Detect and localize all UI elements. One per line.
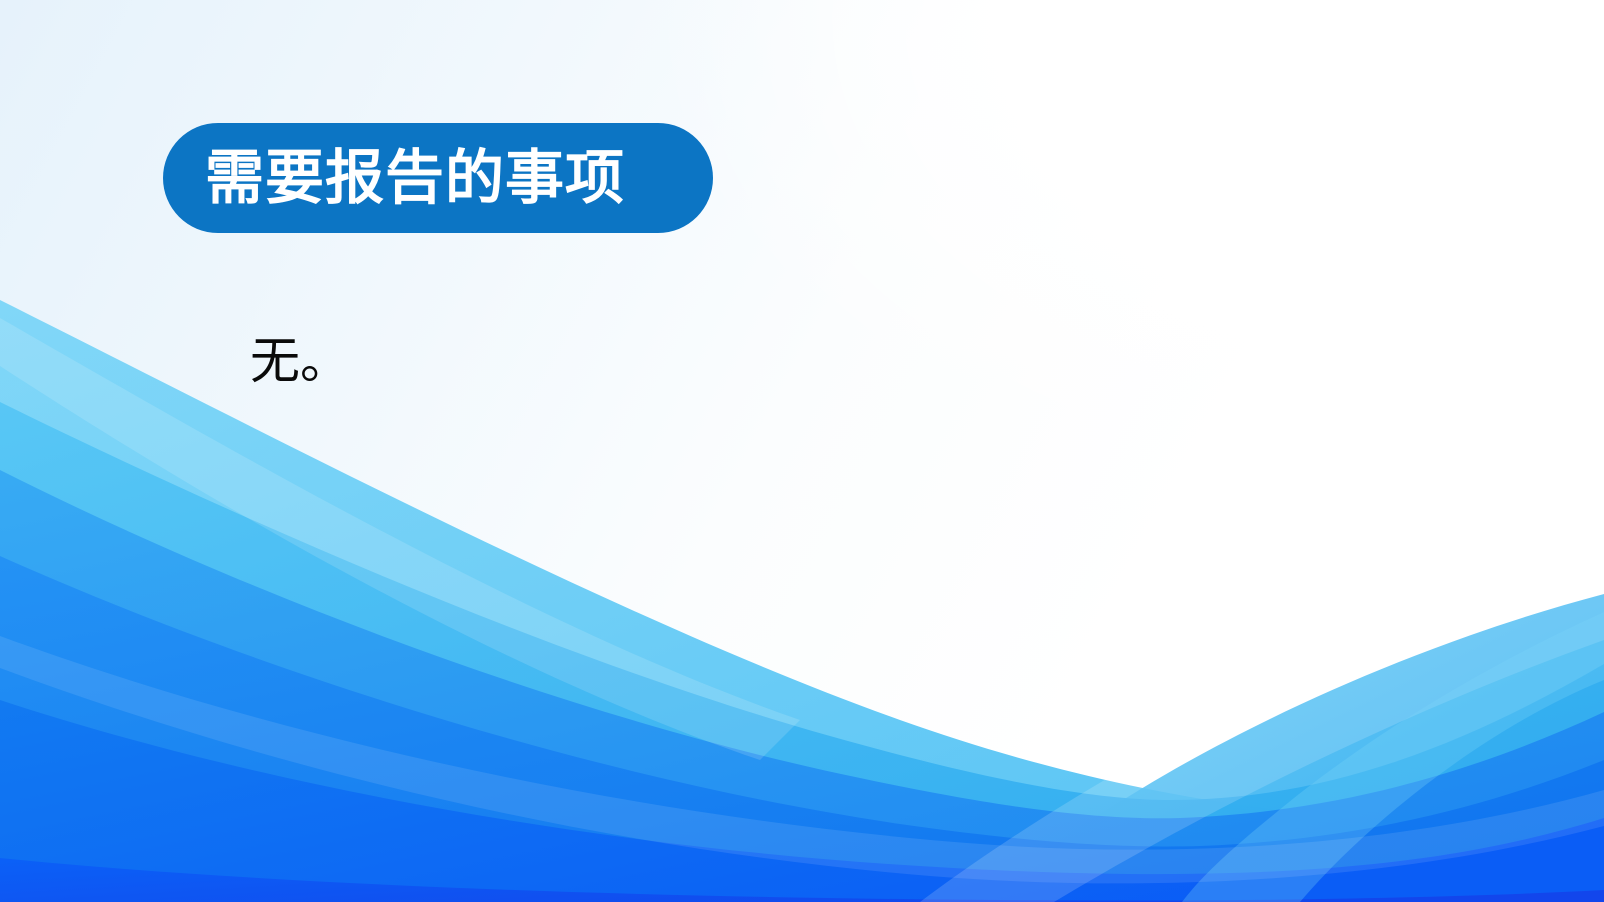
body-line: 无。 bbox=[250, 330, 1450, 393]
slide-title: 需要报告的事项 bbox=[205, 149, 625, 208]
slide-title-pill: 需要报告的事项 bbox=[163, 123, 713, 233]
slide-canvas: 需要报告的事项 无。 bbox=[0, 0, 1604, 902]
slide-body: 无。 bbox=[250, 330, 1450, 393]
